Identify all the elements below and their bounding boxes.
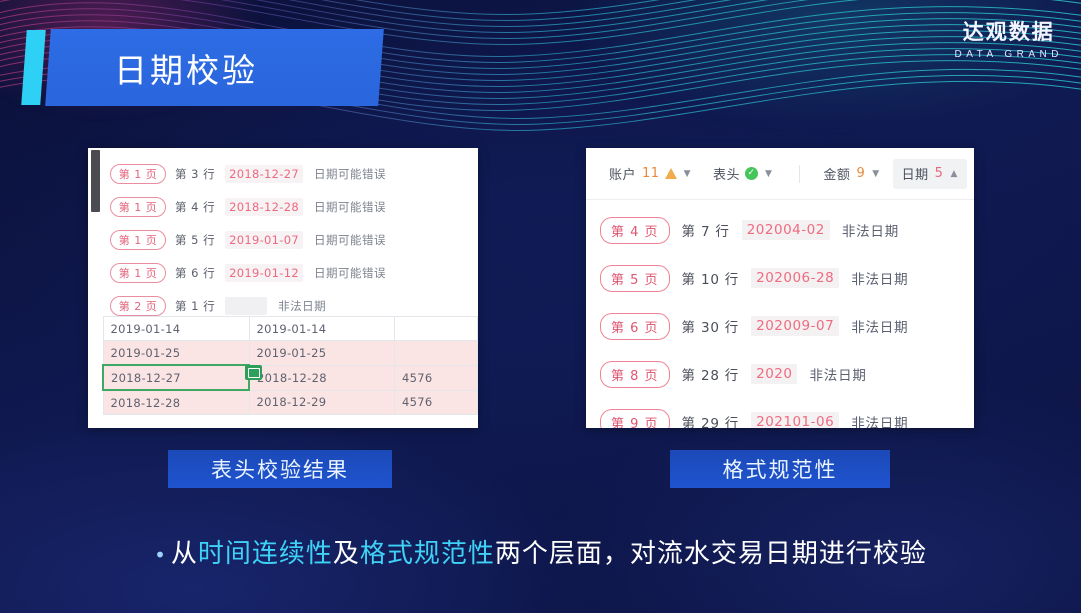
table-cell-date-a[interactable]: 2018-12-28 [103, 390, 249, 415]
brand-logo: 达观数据 DATA GRAND [954, 22, 1063, 60]
row-message: 日期可能错误 [314, 199, 386, 215]
row-message: 非法日期 [278, 298, 326, 314]
left-data-table: 2019-01-142019-01-142019-01-252019-01-25… [102, 316, 478, 415]
left-result-row[interactable]: 第 1 页第 5 行2019-01-07日期可能错误 [110, 223, 470, 256]
right-panel-caption: 格式规范性 [670, 450, 890, 488]
tab-label: 表头 [713, 164, 740, 183]
row-message: 非法日期 [851, 268, 908, 288]
right-result-row[interactable]: 第 6 页第 30 行202009-07非法日期 [600, 302, 965, 350]
left-result-row[interactable]: 第 1 页第 3 行2018-12-27日期可能错误 [110, 157, 470, 190]
row-date-value: 2018-12-28 [225, 198, 303, 216]
validation-tab-bar: 账户11▼表头✓▼金额9▼日期5▲ [586, 148, 974, 200]
table-cell-date-b[interactable]: 2018-12-28 [249, 365, 395, 390]
row-date-value: 2020 [751, 364, 797, 384]
row-number-label: 第 29 行 [682, 412, 740, 428]
tab-金额[interactable]: 金额9▼ [814, 159, 888, 189]
page-badge: 第 1 页 [110, 197, 166, 217]
title-banner: 日期校验 [24, 29, 384, 107]
row-number-label: 第 28 行 [682, 364, 740, 384]
row-date-value: 2019-01-12 [225, 264, 303, 282]
row-message: 非法日期 [809, 364, 866, 384]
table-row[interactable]: 2018-12-272018-12-284576 [103, 365, 478, 390]
table-cell-date-a[interactable]: 2019-01-25 [103, 341, 249, 366]
tab-count: 9 [856, 166, 865, 181]
caption-highlight: 格式规范性 [360, 539, 495, 569]
table-cell-amount[interactable]: 4576 [395, 390, 478, 415]
row-message: 非法日期 [851, 316, 908, 336]
row-message: 非法日期 [851, 412, 908, 428]
left-panel-caption: 表头校验结果 [168, 450, 392, 488]
right-result-row[interactable]: 第 5 页第 10 行202006-28非法日期 [600, 254, 965, 302]
right-result-row[interactable]: 第 8 页第 28 行2020非法日期 [600, 350, 965, 398]
row-number-label: 第 5 行 [175, 232, 215, 248]
page-badge: 第 5 页 [600, 265, 670, 292]
warning-triangle-icon [665, 168, 677, 179]
right-result-row[interactable]: 第 4 页第 7 行202004-02非法日期 [600, 206, 965, 254]
row-date-value: 202101-06 [751, 412, 839, 428]
row-message: 日期可能错误 [314, 166, 386, 182]
row-number-label: 第 3 行 [175, 166, 215, 182]
caption-highlight: 时间连续性 [198, 539, 333, 569]
row-message: 日期可能错误 [314, 232, 386, 248]
bullet-marker: • [154, 543, 167, 567]
chevron-down-icon[interactable]: ▼ [684, 169, 691, 179]
left-table-body: 2019-01-142019-01-142019-01-252019-01-25… [103, 317, 478, 415]
page-title: 日期校验 [114, 29, 258, 106]
tab-label: 日期 [902, 164, 929, 183]
tab-count: 5 [935, 166, 944, 181]
table-row[interactable]: 2019-01-252019-01-25 [103, 341, 478, 366]
slide-bullet-caption: •从时间连续性及格式规范性两个层面，对流水交易日期进行校验 [0, 533, 1081, 570]
right-screenshot-panel: 账户11▼表头✓▼金额9▼日期5▲ 第 4 页第 7 行202004-02非法日… [586, 148, 974, 428]
row-date-value: 202004-02 [742, 220, 830, 240]
row-number-label: 第 30 行 [682, 316, 740, 336]
right-result-list: 第 4 页第 7 行202004-02非法日期第 5 页第 10 行202006… [600, 206, 965, 428]
page-badge: 第 1 页 [110, 230, 166, 250]
row-number-label: 第 7 行 [682, 220, 730, 240]
page-badge: 第 1 页 [110, 164, 166, 184]
table-row[interactable]: 2019-01-142019-01-14 [103, 317, 478, 341]
row-number-label: 第 6 行 [175, 265, 215, 281]
row-date-value [225, 297, 267, 315]
tab-divider [799, 165, 800, 183]
tab-账户[interactable]: 账户11▼ [600, 159, 700, 189]
row-date-value: 202006-28 [751, 268, 839, 288]
row-date-value: 2018-12-27 [225, 165, 303, 183]
page-badge: 第 8 页 [600, 361, 670, 388]
tab-表头[interactable]: 表头✓▼ [704, 159, 781, 189]
brand-name-cn: 达观数据 [954, 22, 1063, 43]
tab-label: 金额 [823, 164, 850, 183]
row-number-label: 第 10 行 [682, 268, 740, 288]
table-cell-date-b[interactable]: 2019-01-14 [249, 317, 395, 341]
row-message: 非法日期 [842, 220, 899, 240]
chevron-down-icon[interactable]: ▼ [765, 169, 772, 179]
table-cell-amount[interactable] [395, 341, 478, 366]
chevron-up-icon[interactable]: ▲ [950, 169, 957, 179]
table-row[interactable]: 2018-12-282018-12-294576 [103, 390, 478, 415]
page-badge: 第 1 页 [110, 263, 166, 283]
table-cell-date-b[interactable]: 2018-12-29 [249, 390, 395, 415]
page-badge: 第 4 页 [600, 217, 670, 244]
row-date-value: 202009-07 [751, 316, 839, 336]
row-message: 日期可能错误 [314, 265, 386, 281]
chevron-down-icon[interactable]: ▼ [872, 169, 879, 179]
caption-plain: 及 [333, 539, 360, 569]
caption-plain: 两个层面，对流水交易日期进行校验 [495, 539, 927, 569]
page-badge: 第 2 页 [110, 296, 166, 316]
check-circle-icon: ✓ [745, 167, 758, 180]
caption-plain: 从 [171, 539, 198, 569]
row-number-label: 第 1 行 [175, 298, 215, 314]
left-result-row[interactable]: 第 1 页第 6 行2019-01-12日期可能错误 [110, 256, 470, 289]
tab-count: 11 [642, 166, 660, 181]
row-number-label: 第 4 行 [175, 199, 215, 215]
tab-label: 账户 [609, 164, 636, 183]
brand-name-en: DATA GRAND [954, 50, 1063, 60]
page-badge: 第 6 页 [600, 313, 670, 340]
right-result-row[interactable]: 第 9 页第 29 行202101-06非法日期 [600, 398, 965, 428]
left-result-row[interactable]: 第 1 页第 4 行2018-12-28日期可能错误 [110, 190, 470, 223]
left-result-list: 第 1 页第 3 行2018-12-27日期可能错误第 1 页第 4 行2018… [110, 157, 470, 322]
spreadsheet-icon[interactable] [245, 365, 262, 380]
caption-text: 从时间连续性及格式规范性两个层面，对流水交易日期进行校验 [171, 539, 927, 569]
tab-日期[interactable]: 日期5▲ [893, 159, 967, 189]
table-cell-date-a[interactable]: 2019-01-14 [103, 317, 249, 341]
scrollbar-thumb[interactable] [91, 150, 100, 212]
table-cell-amount[interactable] [395, 317, 478, 341]
title-accent-bar [21, 30, 46, 105]
table-cell-date-a[interactable]: 2018-12-27 [103, 365, 249, 390]
page-badge: 第 9 页 [600, 409, 670, 429]
left-screenshot-panel: 第 1 页第 3 行2018-12-27日期可能错误第 1 页第 4 行2018… [88, 148, 478, 428]
row-date-value: 2019-01-07 [225, 231, 303, 249]
table-cell-date-b[interactable]: 2019-01-25 [249, 341, 395, 366]
table-cell-amount[interactable]: 4576 [395, 365, 478, 390]
